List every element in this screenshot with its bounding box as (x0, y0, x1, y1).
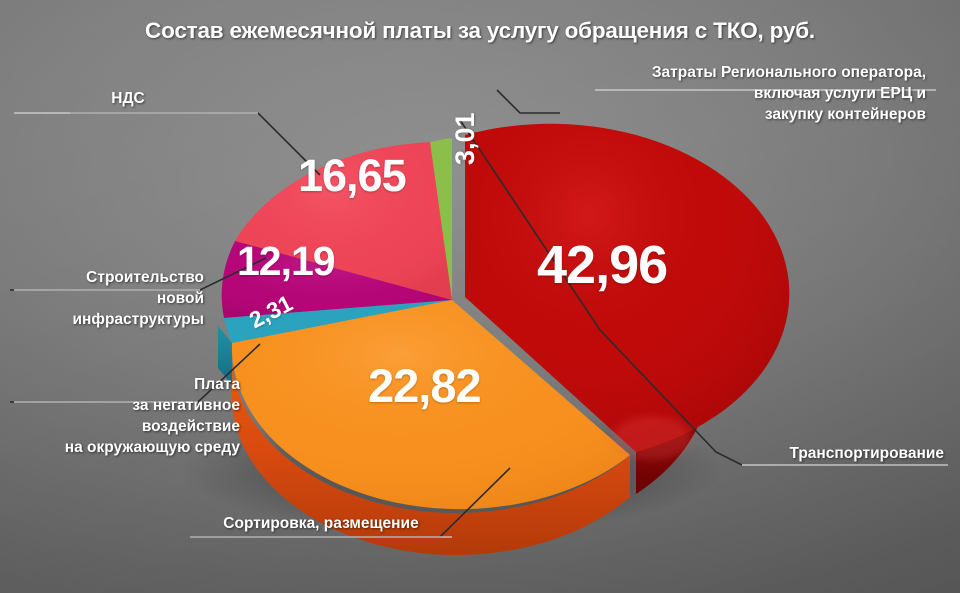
slice-value-operator: 42,96 (537, 234, 667, 296)
callout-eco-line4: на окружающую среду (8, 437, 240, 458)
callout-label-vat: НДС (44, 88, 212, 109)
callout-label-transport: Транспортирование (700, 443, 944, 464)
slice-value-vat: 16,65 (298, 150, 406, 202)
callout-eco-line1: Плата (8, 374, 240, 395)
callout-infra-line1: Строительство (12, 267, 204, 288)
page-title: Состав ежемесячной платы за услугу обращ… (0, 18, 960, 44)
callout-operator-line2: включая услуги ЕРЦ и (596, 83, 926, 104)
callout-operator-line1: Затраты Регионального оператора, (596, 62, 926, 83)
callout-vat-text: НДС (44, 88, 212, 109)
leader-line-operator (497, 90, 560, 113)
callout-infra-line3: инфраструктуры (12, 309, 204, 330)
callout-label-infrastructure: Строительство новой инфраструктуры (12, 267, 204, 330)
callout-label-eco-fee: Плата за негативное воздействие на окруж… (8, 374, 240, 458)
callout-eco-line2: за негативное (8, 395, 240, 416)
callout-sorting-text: Сортировка, размещение (195, 513, 447, 534)
leader-line-vat (70, 113, 320, 175)
callout-operator-line3: закупку контейнеров (596, 104, 926, 125)
callout-label-operator: Затраты Регионального оператора, включая… (596, 62, 926, 125)
callout-eco-line3: воздействие (8, 416, 240, 437)
callout-transport-text: Транспортирование (700, 443, 944, 464)
slice-value-transport: 3,01 (450, 112, 481, 165)
slice-value-infrastructure: 12,19 (237, 238, 335, 285)
callout-label-sorting: Сортировка, размещение (195, 513, 447, 534)
slice-value-sorting: 22,82 (368, 358, 481, 413)
red-slice-specular (612, 416, 692, 460)
callout-infra-line2: новой (12, 288, 204, 309)
slide-canvas: Состав ежемесячной платы за услугу обращ… (0, 0, 960, 593)
